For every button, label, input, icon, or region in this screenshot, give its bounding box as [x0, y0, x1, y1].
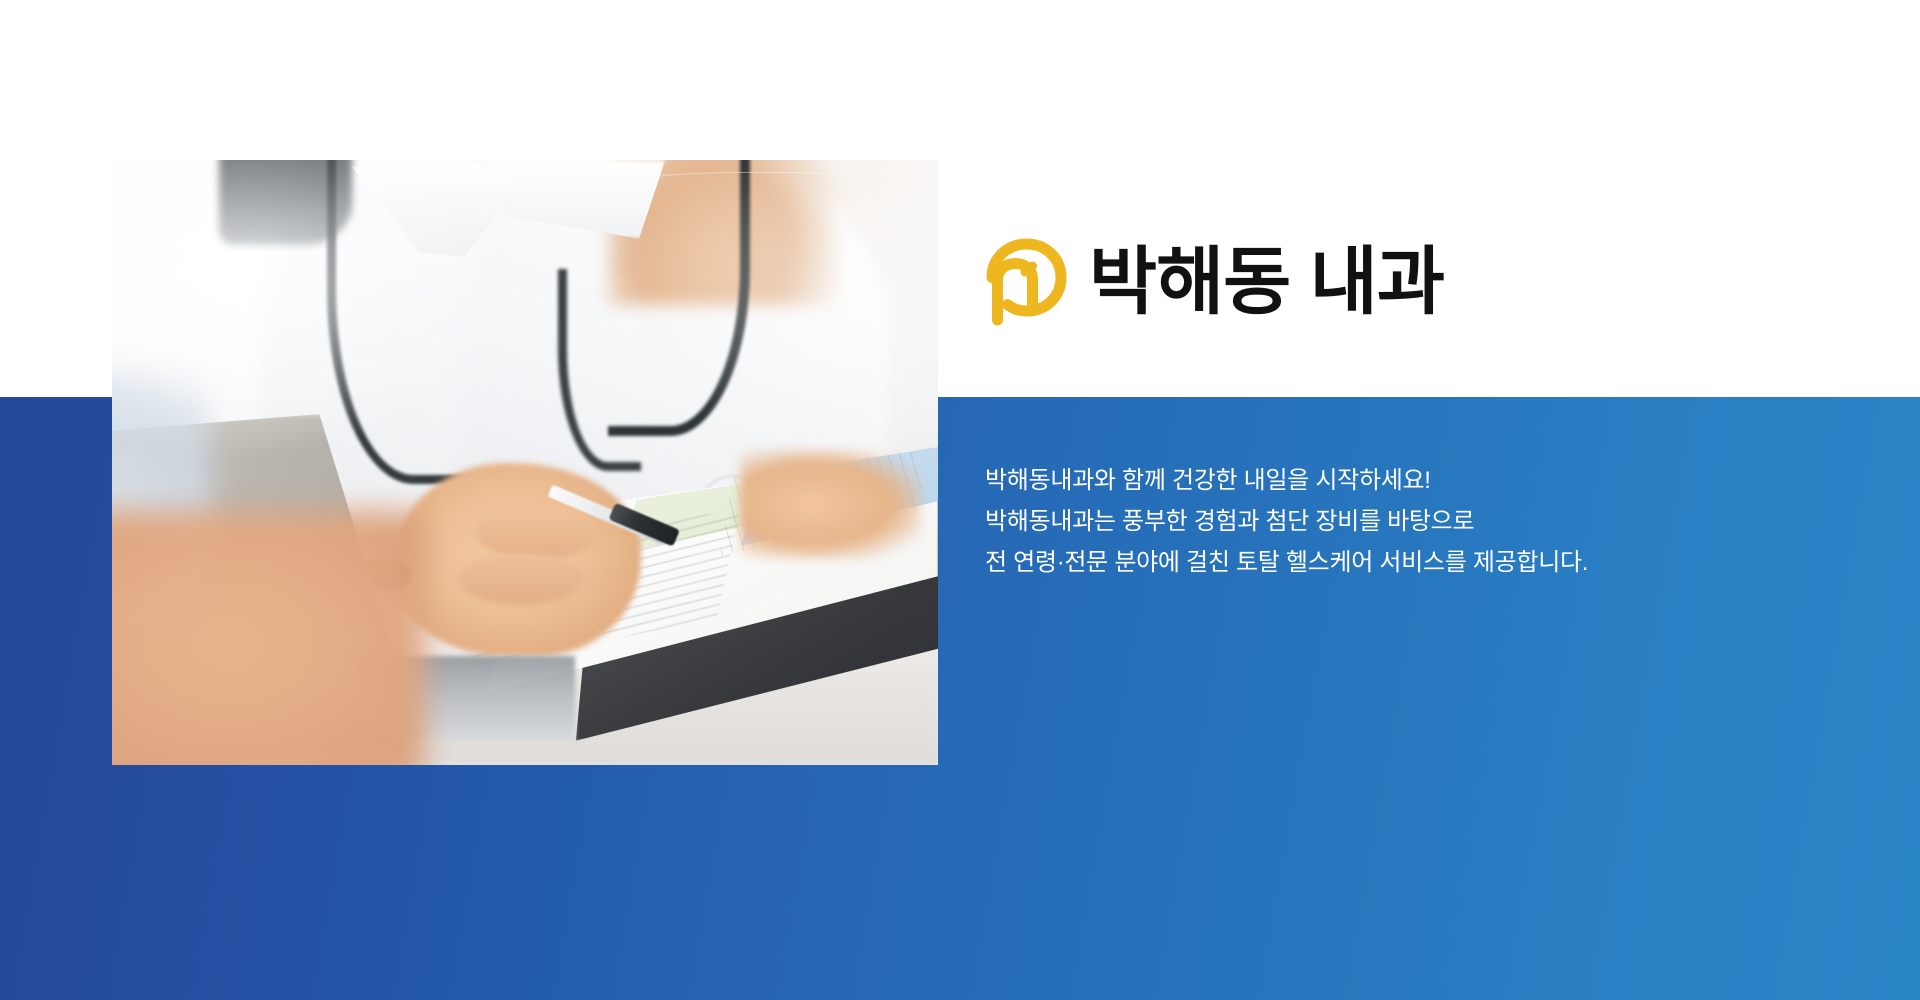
tagline-line-2: 박해동내과는 풍부한 경험과 첨단 장비를 바탕으로	[985, 501, 1765, 542]
photo-doctor-finger-upper	[475, 505, 599, 559]
phd-circle-monogram-icon	[985, 238, 1067, 326]
photo-patient-hand	[740, 450, 922, 559]
photo-doctor-finger-lower	[459, 553, 583, 604]
tagline-block: 박해동내과와 함께 건강한 내일을 시작하세요! 박해동내과는 풍부한 경험과 …	[985, 460, 1765, 583]
tagline-line-3: 전 연령·전문 분야에 걸친 토탈 헬스케어 서비스를 제공합니다.	[985, 542, 1765, 583]
photo-foreground-hand	[112, 511, 426, 765]
promo-banner: 박해동 내과 박해동내과와 함께 건강한 내일을 시작하세요! 박해동내과는 풍…	[0, 0, 1920, 1000]
brand-lockup: 박해동 내과	[985, 238, 1444, 326]
brand-name: 박해동 내과	[1089, 245, 1444, 319]
doctor-consultation-photo	[112, 160, 938, 765]
tagline-line-1: 박해동내과와 함께 건강한 내일을 시작하세요!	[985, 460, 1765, 501]
